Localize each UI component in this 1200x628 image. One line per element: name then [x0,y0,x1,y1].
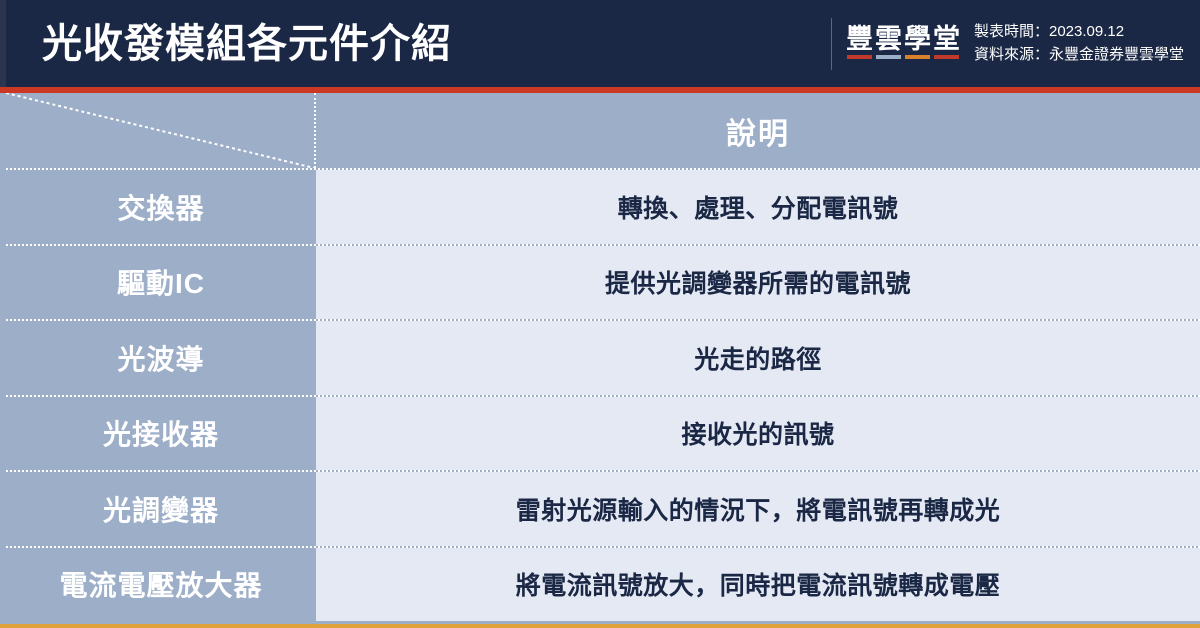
infographic-table-page: 光收發模組各元件介紹 豐 雲 學 堂 製表時間：2023.09.12 資料來源：… [0,0,1200,628]
logo-char-4: 堂 [933,26,960,59]
metadata-block: 製表時間：2023.09.12 資料來源：永豐金證券豐雲學堂 [974,22,1184,65]
components-table: 說明 交換器 轉換、處理、分配電訊號 驅動IC 提供光調變器所需的電訊號 光波導… [0,93,1200,621]
table-header-description: 說明 [316,93,1200,168]
amber-accent-rule [0,624,1200,628]
component-description-cell: 將電流訊號放大，同時把電流訊號轉成電壓 [316,548,1200,622]
table-row: 光波導 光走的路徑 [6,319,1200,395]
logo-char-1: 豐 [846,26,873,59]
header-right-group: 豐 雲 學 堂 製表時間：2023.09.12 資料來源：永豐金證券豐雲學堂 [831,18,1184,70]
logo-char-3: 學 [904,26,931,59]
component-description-cell: 接收光的訊號 [316,397,1200,471]
header-band: 光收發模組各元件介紹 豐 雲 學 堂 製表時間：2023.09.12 資料來源：… [0,0,1200,87]
header-divider [831,18,832,70]
corner-diagonal-divider-icon [6,93,314,168]
component-description-cell: 轉換、處理、分配電訊號 [316,170,1200,244]
data-source-line: 資料來源：永豐金證券豐雲學堂 [974,45,1184,65]
table-row: 光調變器 雷射光源輸入的情況下，將電訊號再轉成光 [6,470,1200,546]
table-row: 光接收器 接收光的訊號 [6,395,1200,471]
page-title: 光收發模組各元件介紹 [42,24,452,64]
brand-logo: 豐 雲 學 堂 [846,26,960,61]
logo-char-2: 雲 [875,26,902,59]
table-header-row: 說明 [6,93,1200,168]
component-name-cell: 光波導 [6,321,316,395]
component-description-cell: 光走的路徑 [316,321,1200,395]
component-name-cell: 交換器 [6,170,316,244]
table-row: 驅動IC 提供光調變器所需的電訊號 [6,244,1200,320]
component-description-cell: 雷射光源輸入的情況下，將電訊號再轉成光 [316,472,1200,546]
table-corner-cell [6,93,316,168]
component-name-cell: 光調變器 [6,472,316,546]
component-name-cell: 光接收器 [6,397,316,471]
table-row: 電流電壓放大器 將電流訊號放大，同時把電流訊號轉成電壓 [6,546,1200,622]
component-name-cell: 電流電壓放大器 [6,548,316,622]
component-description-cell: 提供光調變器所需的電訊號 [316,246,1200,320]
table-row: 交換器 轉換、處理、分配電訊號 [6,168,1200,244]
component-name-cell: 驅動IC [6,246,316,320]
created-time-line: 製表時間：2023.09.12 [974,22,1184,42]
bottom-rule [0,621,1200,628]
